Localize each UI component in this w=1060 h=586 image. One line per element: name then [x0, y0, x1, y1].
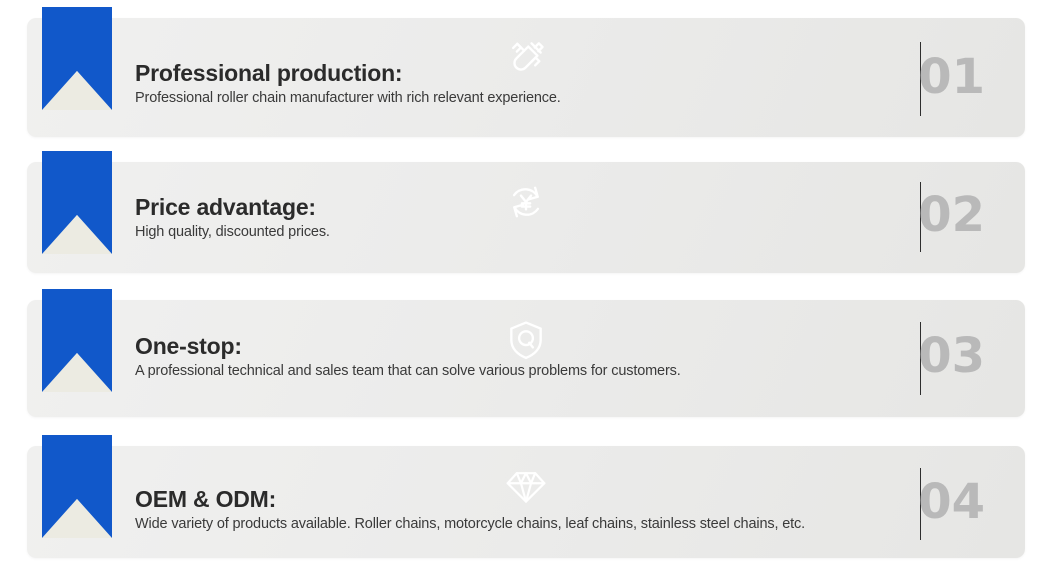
design-tools-icon: [504, 36, 548, 80]
features-page: Professional production: Professional ro…: [0, 0, 1060, 586]
diamond-icon: [504, 464, 548, 508]
feature-description: Wide variety of products available. Roll…: [135, 514, 885, 534]
feature-description: A professional technical and sales team …: [135, 361, 885, 381]
feature-row[interactable]: Price advantage: High quality, discounte…: [27, 162, 1025, 273]
feature-row[interactable]: OEM & ODM: Wide variety of products avai…: [27, 446, 1025, 558]
feature-description: Professional roller chain manufacturer w…: [135, 88, 885, 108]
feature-index: 01: [918, 53, 985, 101]
feature-row[interactable]: Professional production: Professional ro…: [27, 18, 1025, 137]
feature-index: 03: [918, 332, 985, 380]
shield-quality-icon: [504, 318, 548, 362]
feature-description: High quality, discounted prices.: [135, 222, 885, 242]
feature-index: 04: [918, 478, 985, 526]
feature-index: 02: [918, 191, 985, 239]
feature-row[interactable]: One-stop: A professional technical and s…: [27, 300, 1025, 417]
yen-refresh-icon: [504, 180, 548, 224]
